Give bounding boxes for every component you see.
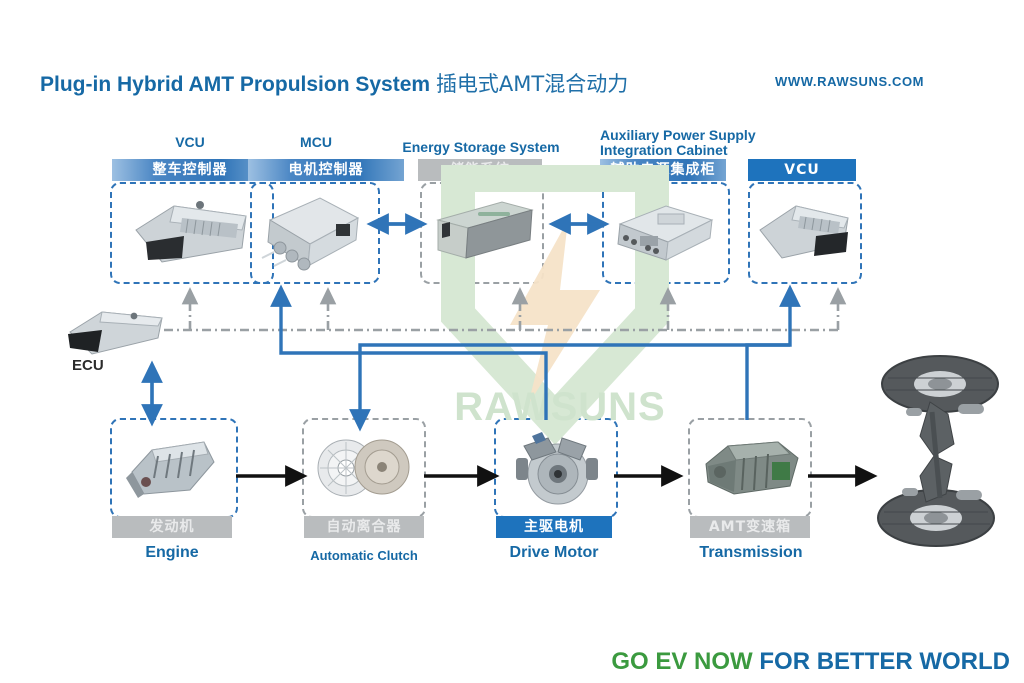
- top-label-mcu: MCU: [256, 135, 376, 150]
- engine-photo: [118, 432, 224, 504]
- mcu-controller-photo: [258, 192, 368, 276]
- tagline: GO EV NOW FOR BETTER WORLD: [611, 648, 1010, 676]
- diagram-canvas: RAWSUNS Plug-in Hybrid AMT Propulsion Sy…: [0, 0, 1024, 683]
- ecu-module-photo: [62, 304, 170, 362]
- rear-axle-wheels-photo: [862, 352, 1012, 548]
- top-label-auxiliary: Auxiliary Power Supply Integration Cabin…: [600, 128, 766, 158]
- auxiliary-cabinet-photo: [610, 198, 720, 268]
- tagline-blue: FOR BETTER WORLD: [759, 648, 1010, 675]
- top-cn-bar-vcu-right: VCU: [748, 159, 856, 181]
- bottom-label-transmission: Transmission: [686, 545, 816, 560]
- page-title-cn: 插电式AMT混合动力: [436, 72, 628, 96]
- tagline-green: GO EV NOW: [611, 648, 752, 675]
- bottom-cn-bar-transmission: AMT变速箱: [690, 516, 810, 538]
- bottom-cn-bar-engine: 发动机: [112, 516, 232, 538]
- clutch-photo: [310, 434, 416, 500]
- top-cn-bar-vcu: 整车控制器: [112, 159, 268, 181]
- page-title: Plug-in Hybrid AMT Propulsion System 插电式…: [40, 68, 628, 98]
- battery-pack-photo: [432, 196, 536, 264]
- bottom-cn-bar-drive-motor: 主驱电机: [496, 516, 612, 538]
- vcu-controller-photo-2: [752, 196, 856, 268]
- top-label-ess: Energy Storage System: [398, 140, 564, 155]
- website-url: WWW.RAWSUNS.COM: [775, 74, 924, 89]
- drive-motor-photo: [502, 428, 606, 508]
- top-cn-bar-auxiliary: 辅助电源集成柜: [600, 159, 726, 181]
- transmission-photo: [694, 434, 806, 504]
- bottom-cn-bar-clutch: 自动离合器: [304, 516, 424, 538]
- top-label-vcu: VCU: [130, 135, 250, 150]
- bottom-label-engine: Engine: [112, 545, 232, 560]
- bottom-label-clutch: Automatic Clutch: [294, 548, 434, 563]
- page-title-en: Plug-in Hybrid AMT Propulsion System: [40, 73, 430, 96]
- top-cn-bar-mcu: 电机控制器: [248, 159, 404, 181]
- bottom-label-drive-motor: Drive Motor: [494, 545, 614, 560]
- top-cn-bar-ess: 储能系统: [418, 159, 542, 181]
- vcu-controller-photo: [122, 196, 258, 270]
